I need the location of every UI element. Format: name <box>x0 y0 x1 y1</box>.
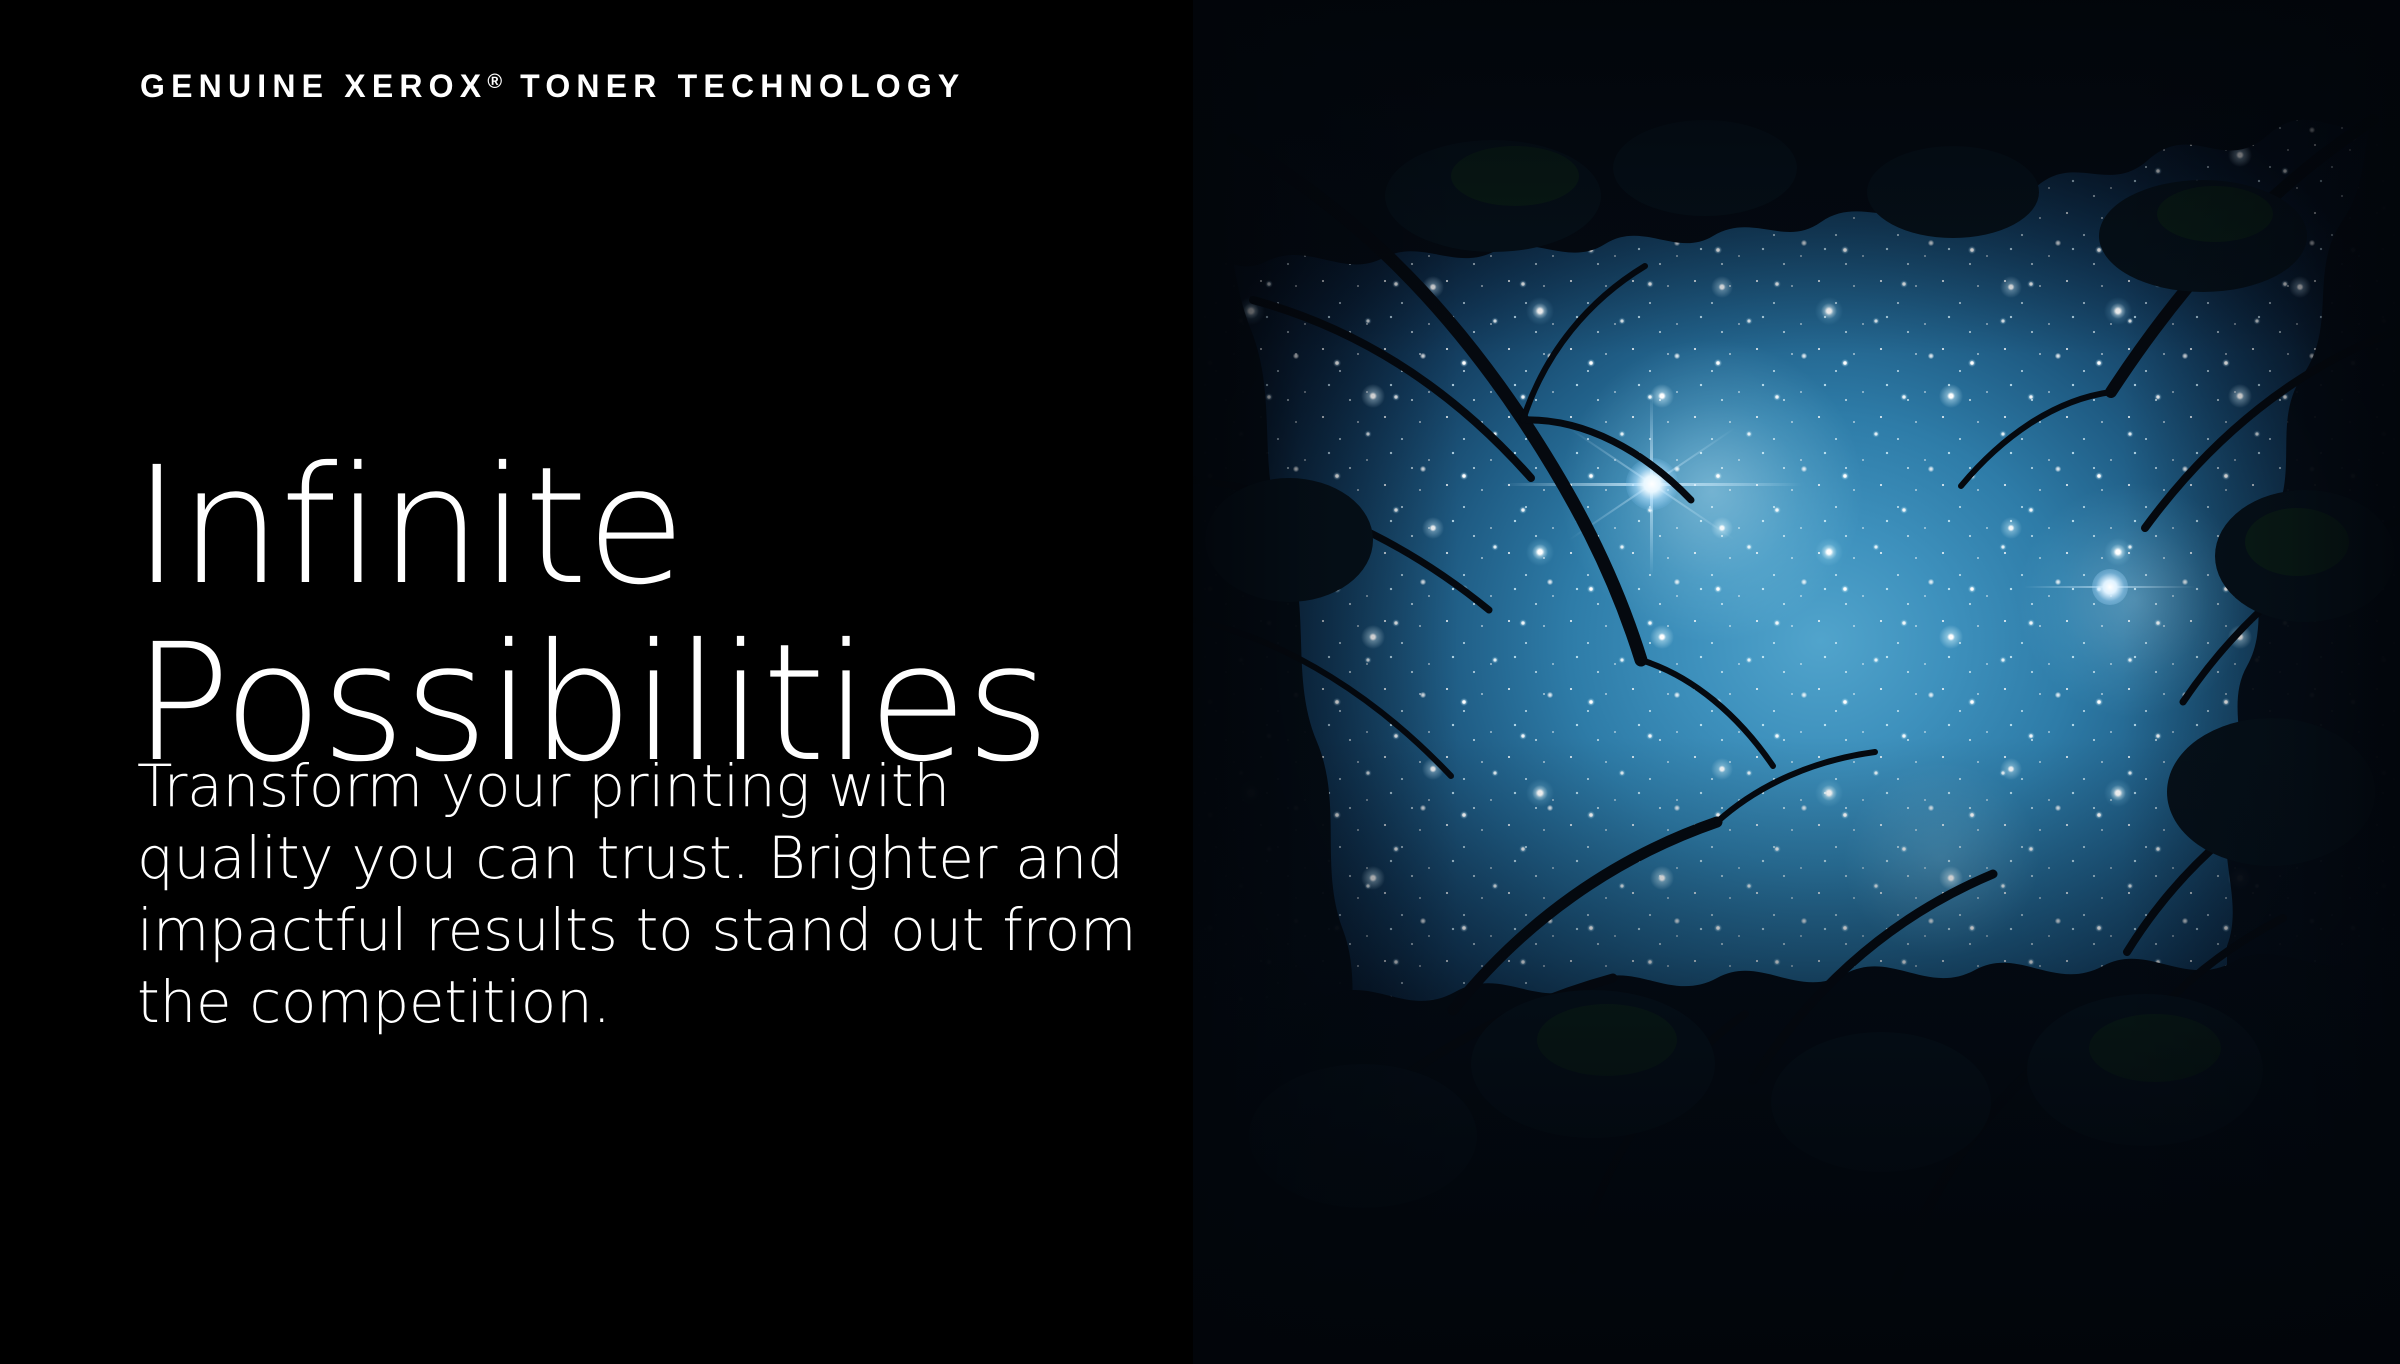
body-line-1: Transform your printing with <box>137 750 1017 822</box>
body-line-2: quality you can trust. Brighter and <box>137 822 1017 894</box>
registered-trademark-icon: ® <box>487 71 505 93</box>
photo-vignette <box>1193 0 2400 1364</box>
page-title: Infinite Possibilities <box>133 439 1133 793</box>
starry-forest-photo: xerox™ <box>1193 0 2400 1364</box>
body-line-4: the competition. <box>137 966 1017 1038</box>
body-paragraph: Transform your printing with quality you… <box>137 750 1017 1038</box>
marketing-banner: GENUINE XEROX® TONER TECHNOLOGY Infinite… <box>0 0 2400 1364</box>
headline-line-1: Infinite <box>133 439 1133 616</box>
left-text-panel: GENUINE XEROX® TONER TECHNOLOGY Infinite… <box>0 0 1193 1364</box>
body-line-3: impactful results to stand out from <box>137 894 1017 966</box>
eyebrow-suffix: TONER TECHNOLOGY <box>520 68 965 104</box>
eyebrow-kicker: GENUINE XEROX® TONER TECHNOLOGY <box>140 62 965 106</box>
eyebrow-prefix: GENUINE XEROX <box>140 68 487 104</box>
